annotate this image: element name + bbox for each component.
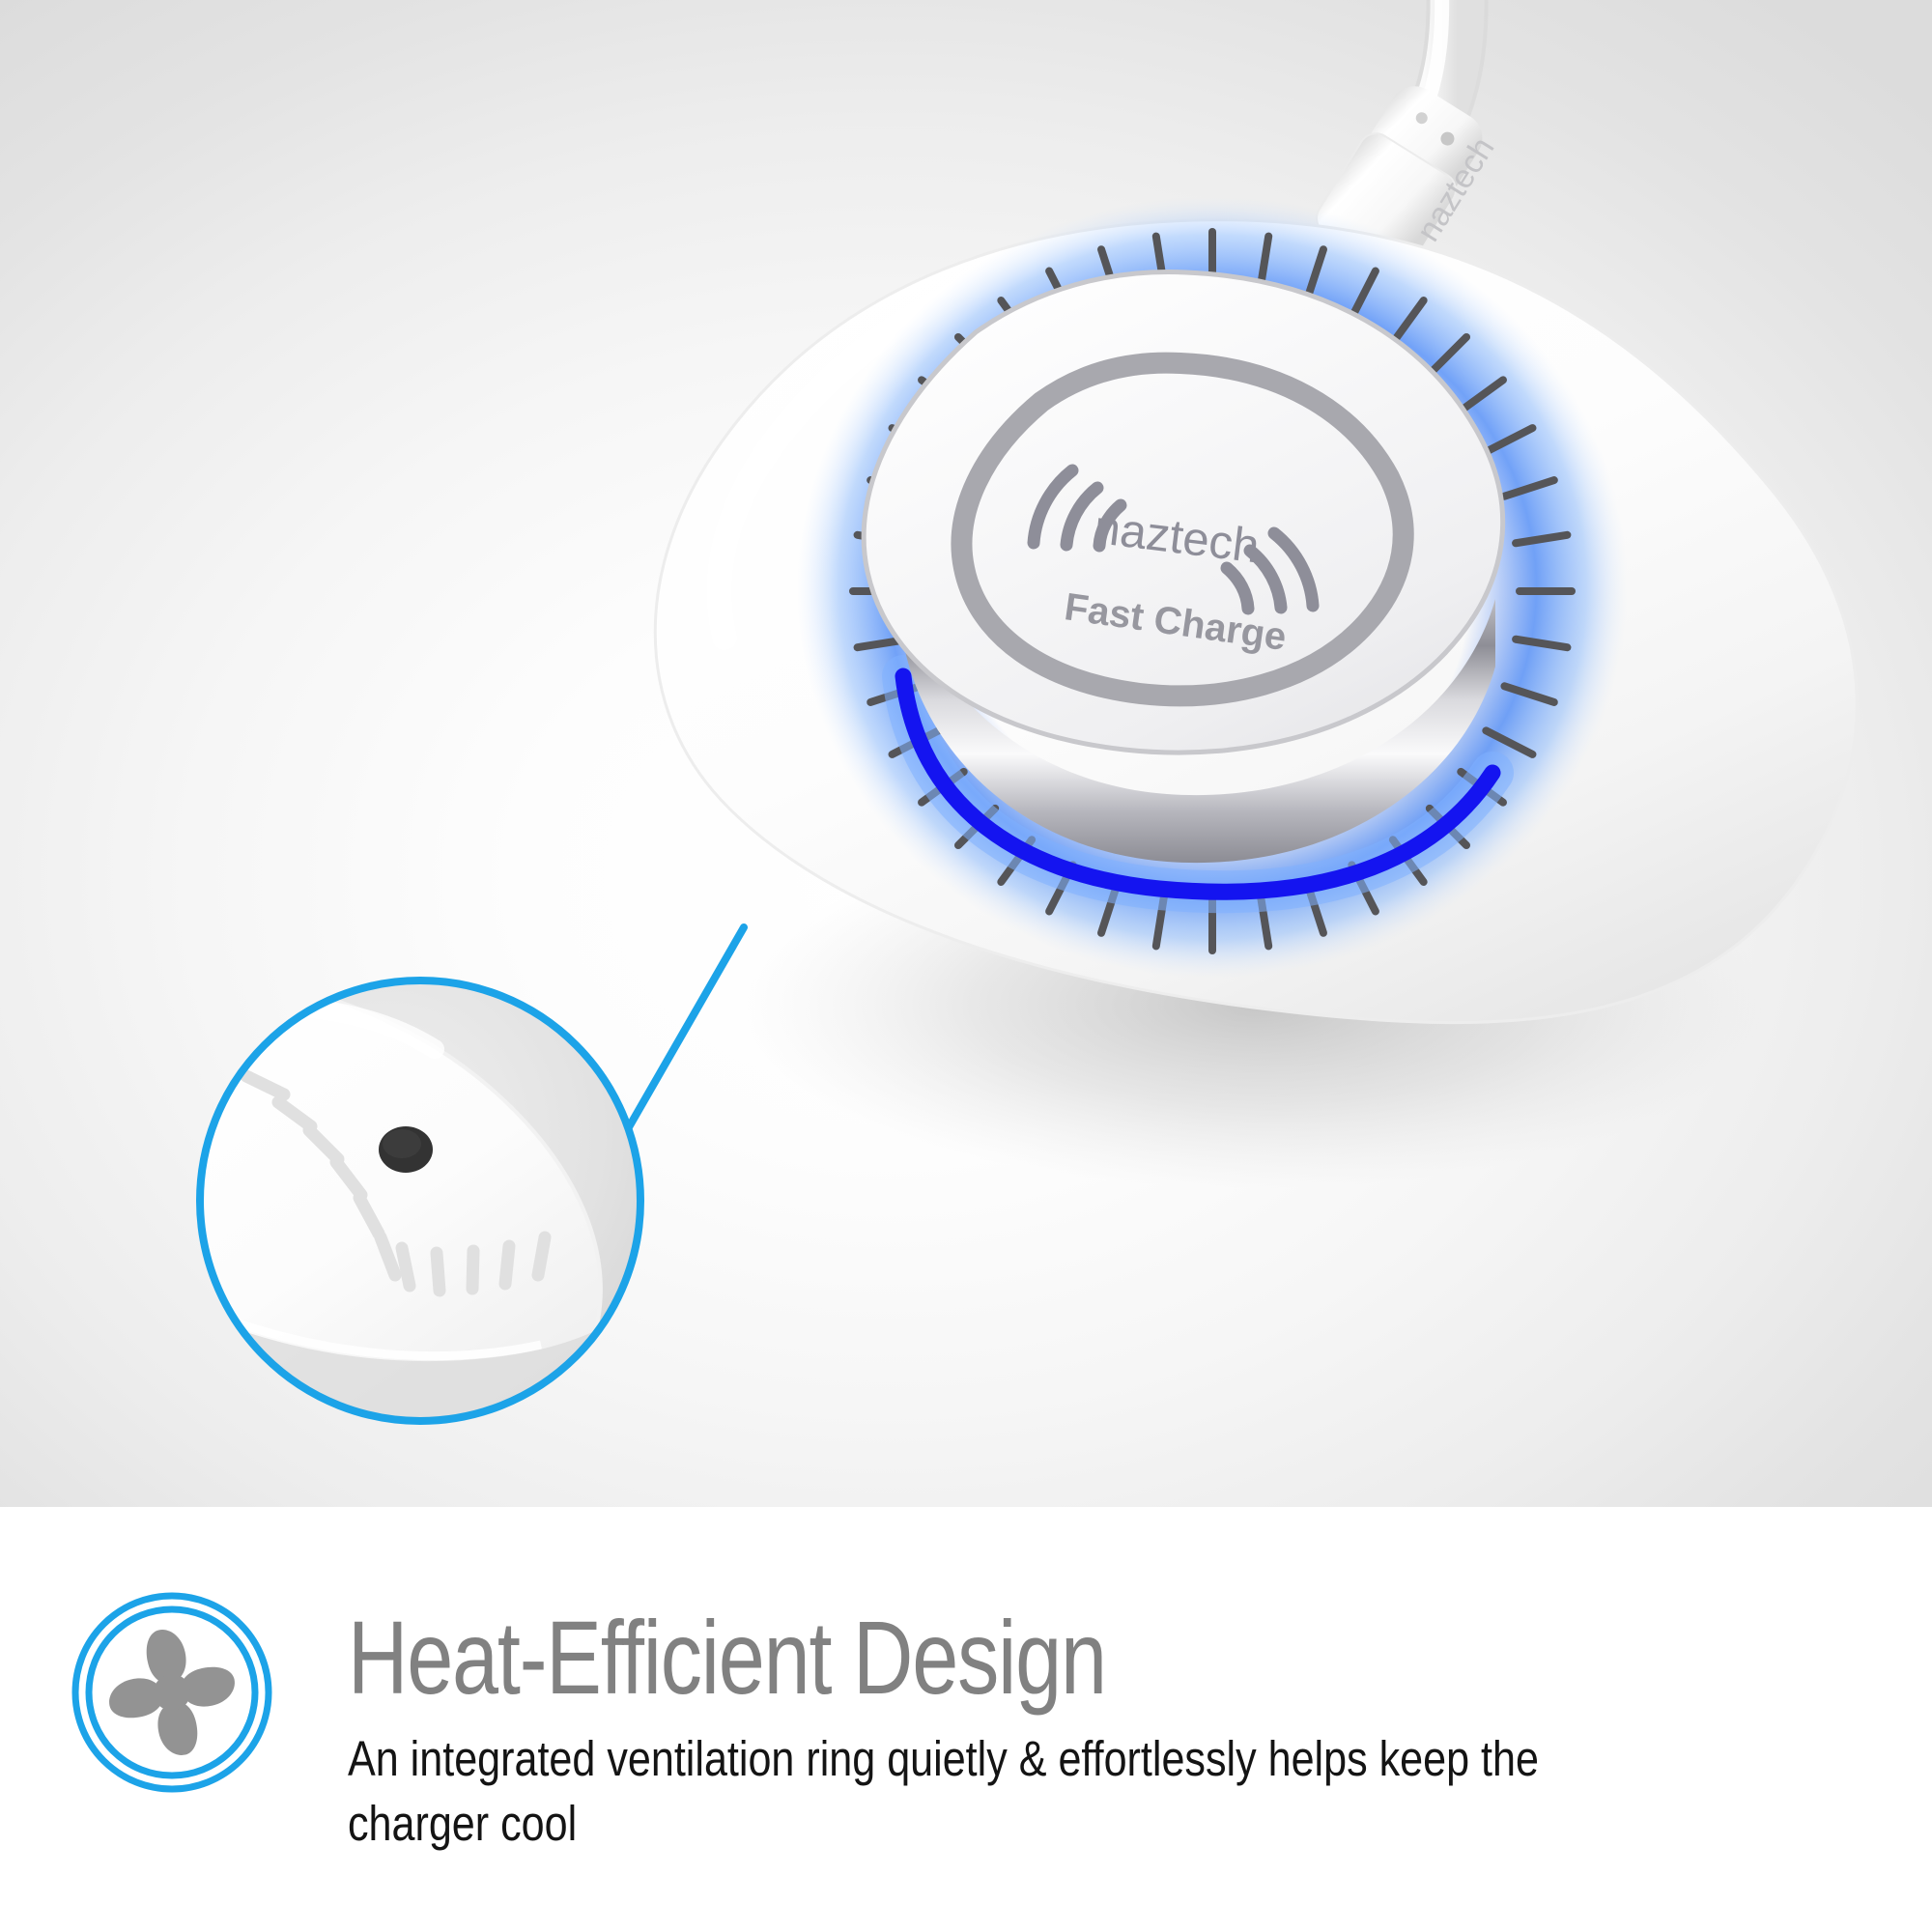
hero-product-photo: naztech <box>0 0 1932 1507</box>
fan-blades <box>105 1626 239 1759</box>
magnified-callout <box>145 966 652 1449</box>
product-feature-image: naztech <box>0 0 1932 1932</box>
feature-text-block: Heat-Efficient Design An integrated vent… <box>348 1604 1855 1856</box>
fan-icon <box>70 1590 274 1795</box>
feature-body-text: An integrated ventilation ring quietly &… <box>348 1727 1621 1856</box>
hero-illustration: naztech <box>0 0 1932 1507</box>
feature-heading: Heat-Efficient Design <box>348 1604 1553 1712</box>
callout-leader-line <box>618 927 744 1146</box>
